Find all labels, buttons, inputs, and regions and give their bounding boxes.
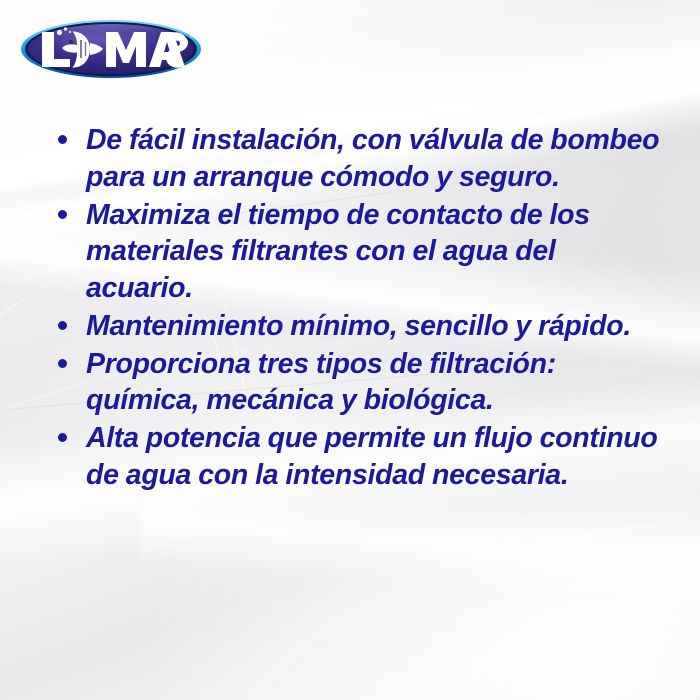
bullet-text: Proporciona tres tipos de filtración: qu… (86, 348, 556, 417)
trademark-icon: ® (190, 32, 196, 40)
bullet-text: Mantenimiento mínimo, sencillo y rápido. (86, 310, 631, 342)
list-item: Alta potencia que permite un flujo conti… (50, 420, 662, 494)
list-item: De fácil instalación, con válvula de bom… (50, 122, 662, 196)
bullet-text: Maximiza el tiempo de contacto de los ma… (86, 199, 590, 305)
list-item: Mantenimiento mínimo, sencillo y rápido. (50, 308, 662, 345)
lomas-logo[interactable]: ® (18, 18, 204, 80)
bullet-dot-icon (58, 321, 67, 330)
list-item: Maximiza el tiempo de contacto de los ma… (50, 197, 662, 307)
bullet-dot-icon (58, 359, 67, 368)
bullet-text: Alta potencia que permite un flujo conti… (86, 422, 658, 491)
feature-bullet-list: De fácil instalación, con válvula de bom… (50, 122, 662, 495)
bullet-dot-icon (58, 433, 67, 442)
bullet-text: De fácil instalación, con válvula de bom… (86, 124, 659, 193)
list-item: Proporciona tres tipos de filtración: qu… (50, 346, 662, 420)
product-feature-slide: ® De fácil instalación, con válvula de b… (0, 0, 700, 700)
bullet-dot-icon (58, 135, 67, 144)
bullet-dot-icon (58, 210, 67, 219)
